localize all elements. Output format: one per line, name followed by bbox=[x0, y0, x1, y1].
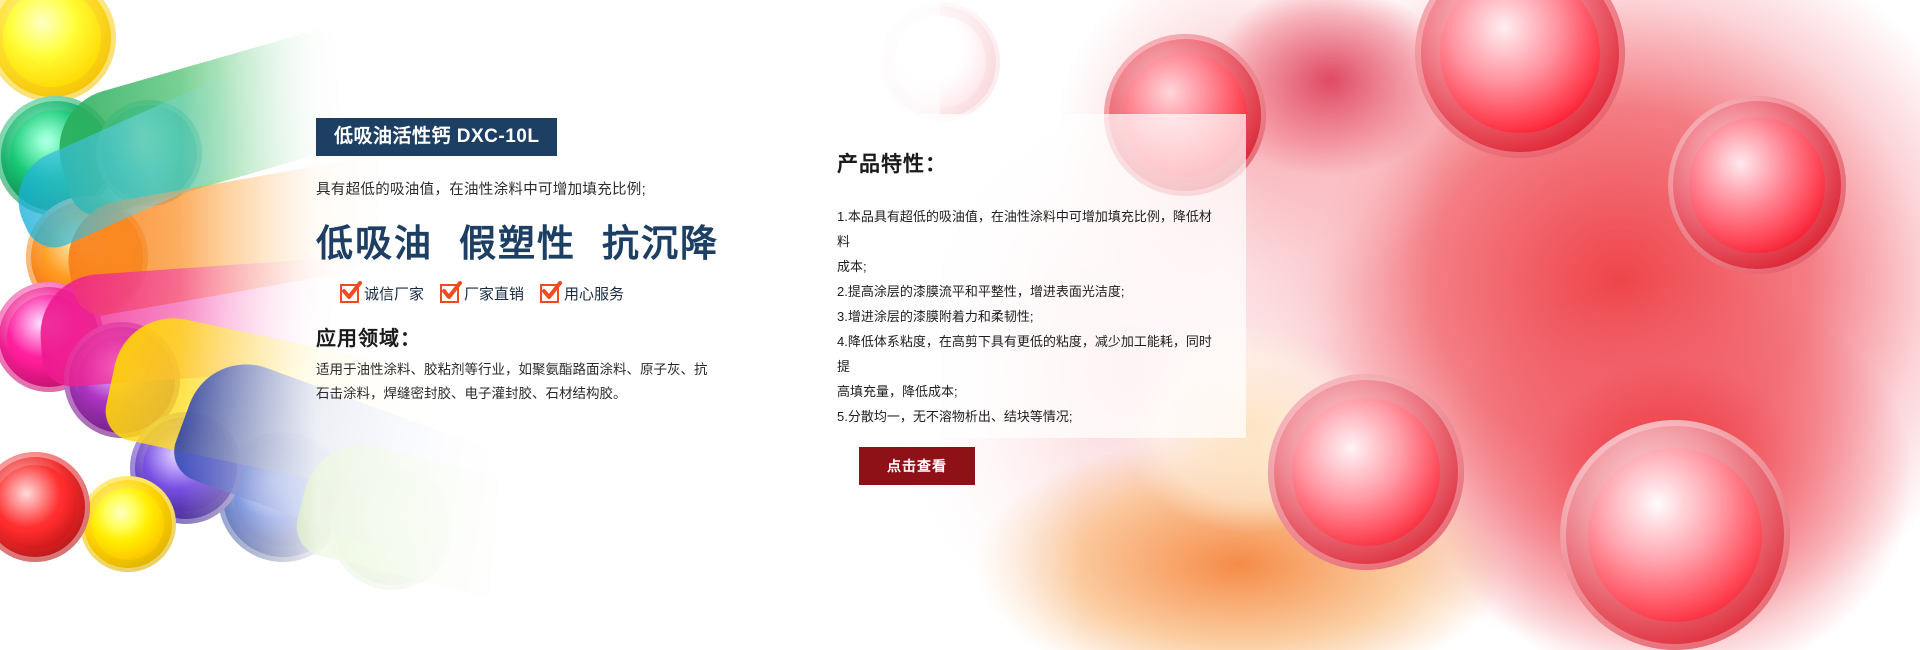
headline-word-1: 低吸油 bbox=[316, 223, 433, 264]
feature-check-item-1: 诚信厂家 bbox=[340, 283, 424, 304]
application-section-body: 适用于油性涂料、胶粘剂等行业，如聚氨酯路面涂料、原子灰、抗石击涂料，焊缝密封胶、… bbox=[316, 358, 716, 406]
feature-line-7: 5.分散均一，无不溶物析出、结块等情况; bbox=[837, 404, 1216, 429]
paint-pot-red-3 bbox=[1668, 96, 1846, 274]
paint-pot-yellow-2 bbox=[80, 476, 176, 572]
feature-check-item-3: 用心服务 bbox=[540, 283, 624, 304]
feature-check-label-1: 诚信厂家 bbox=[364, 283, 424, 304]
checkbox-check-icon bbox=[540, 284, 559, 303]
feature-line-6: 高填充量，降低成本; bbox=[837, 379, 1216, 404]
checkbox-check-icon bbox=[440, 284, 459, 303]
features-list: 1.本品具有超低的吸油值，在油性涂料中可增加填充比例，降低材料 成本; 2.提高… bbox=[837, 204, 1216, 429]
feature-line-5: 4.降低体系粘度，在高剪下具有更低的粘度，减少加工能耗，同时提 bbox=[837, 329, 1216, 379]
feature-line-4: 3.增进涂层的漆膜附着力和柔韧性; bbox=[837, 304, 1216, 329]
headline-word-3: 抗沉降 bbox=[602, 223, 719, 264]
product-subtitle: 具有超低的吸油值，在油性涂料中可增加填充比例; bbox=[316, 178, 736, 199]
features-panel-title: 产品特性： bbox=[837, 148, 1216, 178]
feature-line-1: 1.本品具有超低的吸油值，在油性涂料中可增加填充比例，降低材料 bbox=[837, 204, 1216, 254]
paint-pot-red-4 bbox=[1268, 374, 1464, 570]
paint-pot-red-5 bbox=[1560, 420, 1790, 650]
headline-word-2: 假塑性 bbox=[459, 223, 576, 264]
feature-check-label-2: 厂家直销 bbox=[464, 283, 524, 304]
checkbox-check-icon bbox=[340, 284, 359, 303]
product-title-badge: 低吸油活性钙 DXC-10L bbox=[316, 118, 557, 156]
product-features-panel: 产品特性： 1.本品具有超低的吸油值，在油性涂料中可增加填充比例，降低材料 成本… bbox=[803, 114, 1246, 438]
feature-check-label-3: 用心服务 bbox=[564, 283, 624, 304]
feature-line-2: 成本; bbox=[837, 254, 1216, 279]
headline-keywords: 低吸油假塑性抗沉降 bbox=[316, 213, 736, 267]
banner-stage: 低吸油活性钙 DXC-10L 具有超低的吸油值，在油性涂料中可增加填充比例; 低… bbox=[0, 0, 1920, 650]
feature-check-item-2: 厂家直销 bbox=[440, 283, 524, 304]
application-section-title: 应用领域： bbox=[316, 322, 736, 351]
feature-line-3: 2.提高涂层的漆膜流平和平整性，增进表面光洁度; bbox=[837, 279, 1216, 304]
view-details-button[interactable]: 点击查看 bbox=[859, 447, 975, 485]
left-content: 低吸油活性钙 DXC-10L 具有超低的吸油值，在油性涂料中可增加填充比例; 低… bbox=[316, 118, 736, 406]
feature-check-row: 诚信厂家 厂家直销 用心服务 bbox=[316, 283, 736, 304]
